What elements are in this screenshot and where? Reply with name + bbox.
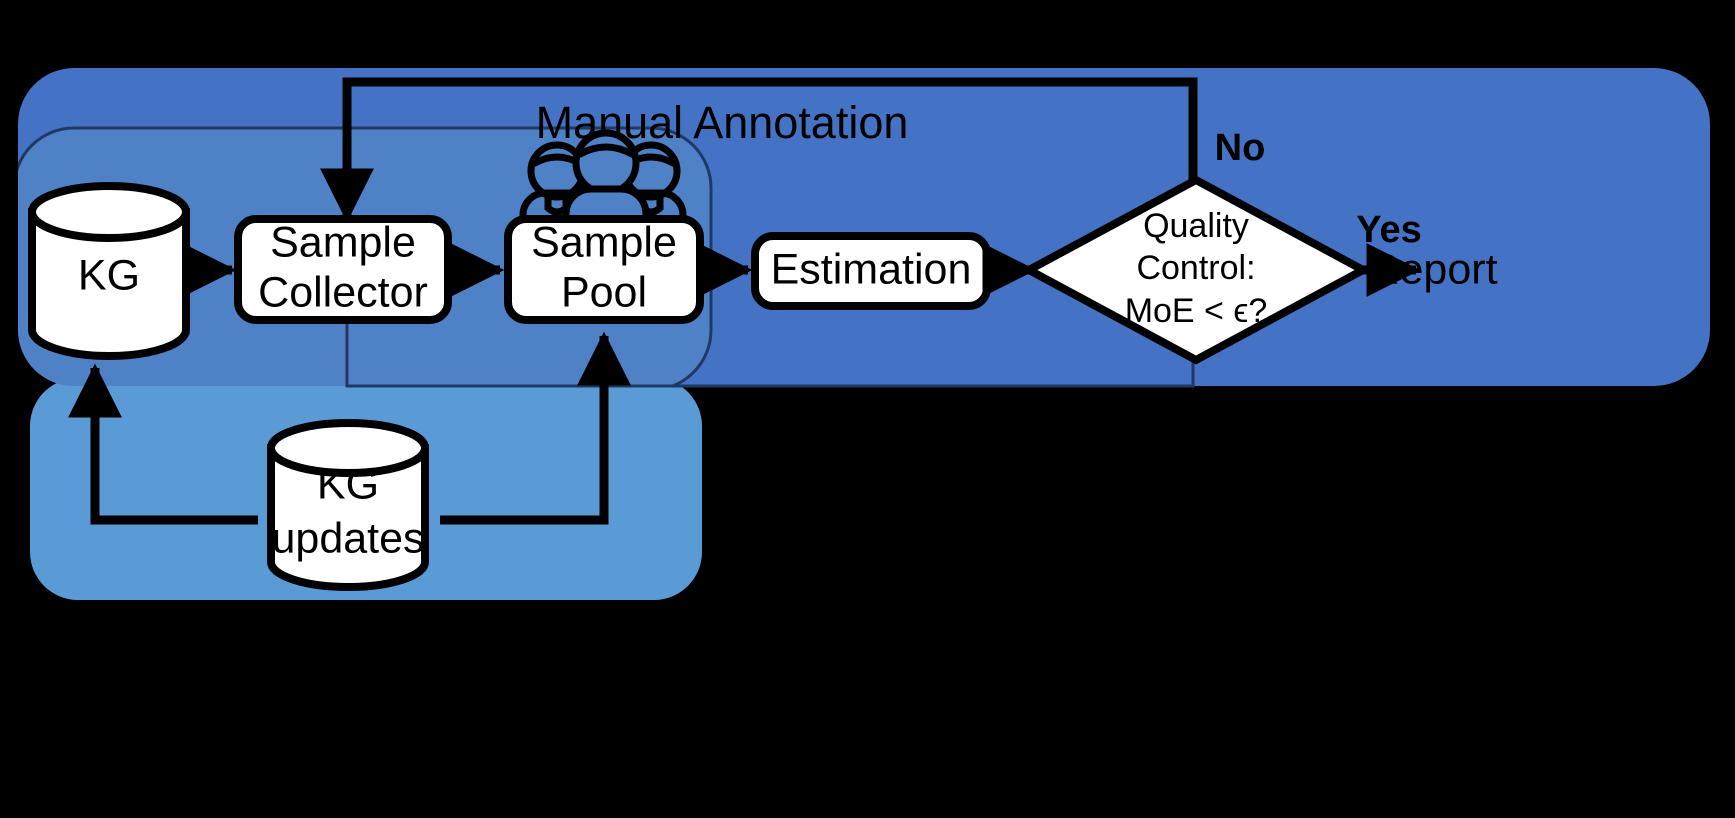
node-quality-control-line1: Quality: [1143, 207, 1249, 245]
edge-label-no: No: [1215, 127, 1266, 169]
node-quality-control-line2: Control:: [1136, 249, 1255, 287]
node-kg: KG: [32, 186, 186, 356]
node-sample-pool-line2: Pool: [561, 268, 647, 316]
node-sample-collector-line1: Sample: [270, 218, 416, 266]
node-sample-pool: Sample Pool: [508, 218, 700, 320]
diagram-canvas: Manual Annotation No KG Sample Collector: [0, 0, 1735, 818]
node-estimation: Estimation: [755, 236, 987, 306]
node-kg-updates-line1: KG: [317, 460, 379, 508]
node-sample-collector: Sample Collector: [238, 218, 448, 320]
node-sample-pool-line1: Sample: [531, 218, 677, 266]
node-sample-collector-line2: Collector: [258, 268, 428, 316]
node-kg-label: KG: [78, 251, 140, 299]
node-report-label: Report: [1368, 245, 1497, 293]
node-kg-updates: KG updates: [271, 423, 425, 587]
node-estimation-label: Estimation: [771, 245, 972, 293]
node-quality-control-line3: MoE < ϵ?: [1125, 292, 1268, 330]
node-kg-updates-line2: updates: [271, 514, 424, 562]
pipeline-diagram: Manual Annotation No KG Sample Collector: [0, 0, 1735, 818]
